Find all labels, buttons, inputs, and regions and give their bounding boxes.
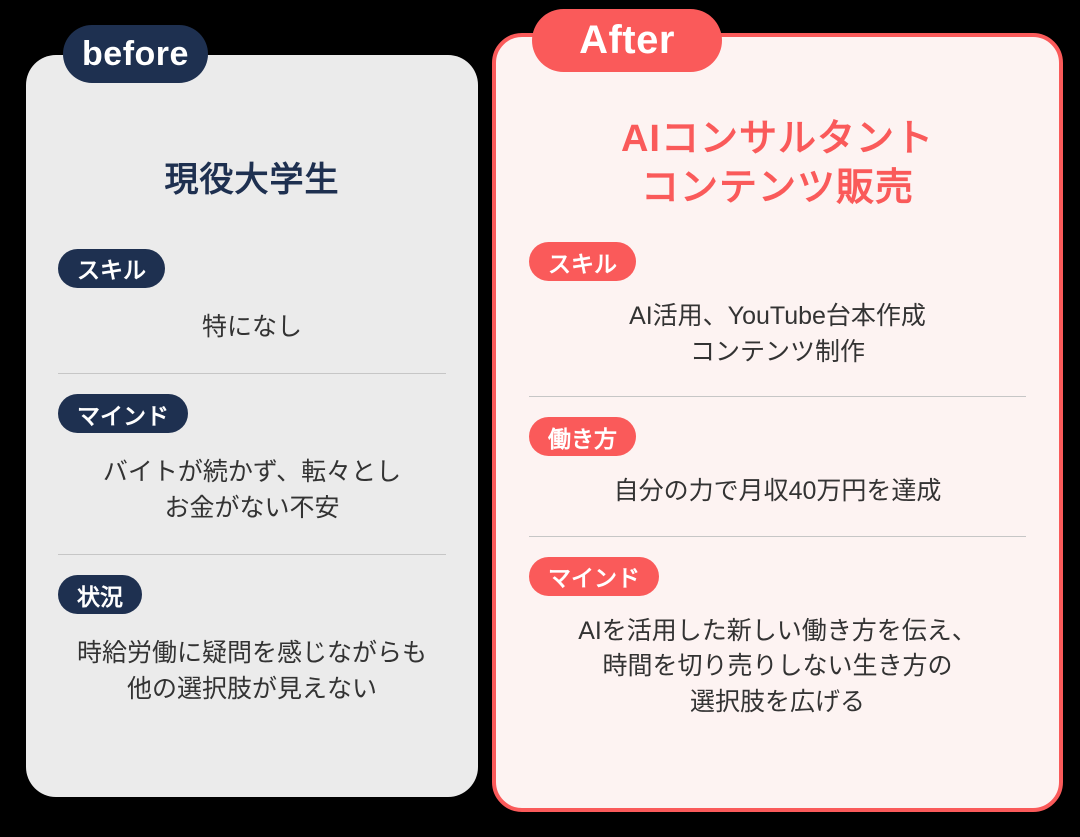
before-section-situation: 状況 時給労働に疑問を感じながらも 他の選択肢が見えない	[58, 554, 446, 735]
before-section-situation-head: 状況	[58, 575, 446, 614]
before-pill-skill: スキル	[58, 249, 165, 288]
before-section-skill-head: スキル	[58, 249, 446, 288]
after-section-list: スキル AI活用、YouTube台本作成 コンテンツ制作 働き方 自分の力で月収…	[496, 242, 1059, 746]
before-pill-situation: 状況	[58, 575, 142, 614]
before-card-title: 現役大学生	[26, 159, 478, 203]
before-tab-badge: before	[63, 25, 208, 83]
before-section-list: スキル 特になし マインド バイトが続かず、転々とし お金がない不安	[26, 249, 478, 736]
section-divider	[58, 373, 446, 374]
before-section-skill-body: 特になし	[58, 310, 446, 346]
after-section-workstyle-body: 自分の力で月収40万円を達成	[529, 474, 1026, 510]
after-section-workstyle: 働き方 自分の力で月収40万円を達成	[529, 396, 1026, 536]
section-divider	[529, 396, 1026, 397]
after-section-mind-body: AIを活用した新しい働き方を伝え、 時間を切り売りしない生き方の 選択肢を広げる	[529, 614, 1026, 721]
before-section-mind: マインド バイトが続かず、転々とし お金がない不安	[58, 373, 446, 554]
after-pill-mind: マインド	[529, 557, 659, 596]
before-pill-mind: マインド	[58, 394, 188, 433]
after-card-inner: AIコンサルタント コンテンツ販売 スキル AI活用、YouTube台本作成 コ…	[496, 37, 1059, 808]
after-section-workstyle-head: 働き方	[529, 417, 1026, 456]
before-section-mind-head: マインド	[58, 394, 446, 433]
section-divider	[529, 536, 1026, 537]
after-section-skill: スキル AI活用、YouTube台本作成 コンテンツ制作	[529, 242, 1026, 396]
before-card-inner: 現役大学生 スキル 特になし マインド バイトが続かず、転々とし お金	[26, 55, 478, 797]
after-card-title: AIコンサルタント コンテンツ販売	[496, 115, 1059, 212]
before-card: before 現役大学生 スキル 特になし マインド	[26, 55, 478, 797]
after-section-skill-head: スキル	[529, 242, 1026, 281]
after-section-skill-body: AI活用、YouTube台本作成 コンテンツ制作	[529, 299, 1026, 370]
comparison-diagram: before 現役大学生 スキル 特になし マインド	[0, 0, 1080, 837]
after-pill-workstyle: 働き方	[529, 417, 636, 456]
before-section-situation-body: 時給労働に疑問を感じながらも 他の選択肢が見えない	[58, 636, 446, 707]
after-section-mind: マインド AIを活用した新しい働き方を伝え、 時間を切り売りしない生き方の 選択…	[529, 536, 1026, 747]
after-card: After AIコンサルタント コンテンツ販売 スキル AI活用、YouTube…	[492, 33, 1063, 812]
before-section-skill: スキル 特になし	[58, 249, 446, 374]
after-pill-skill: スキル	[529, 242, 636, 281]
after-section-mind-head: マインド	[529, 557, 1026, 596]
section-divider	[58, 554, 446, 555]
after-tab-badge: After	[532, 9, 722, 72]
before-section-mind-body: バイトが続かず、転々とし お金がない不安	[58, 455, 446, 526]
